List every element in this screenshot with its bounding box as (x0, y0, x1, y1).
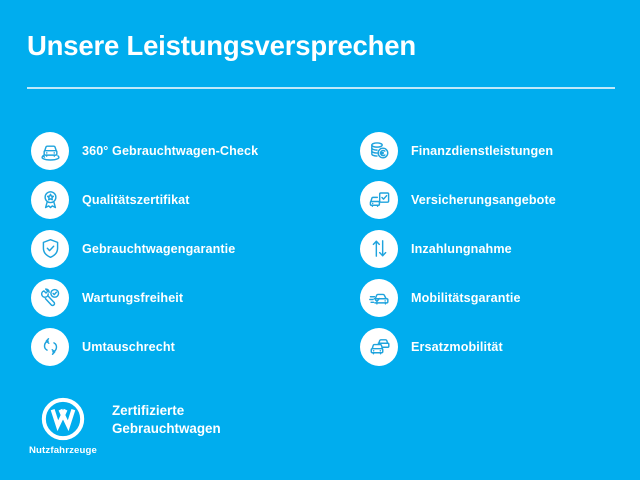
wrench-check-icon (31, 279, 69, 317)
brand-claim: Zertifizierte Gebrauchtwagen (112, 402, 221, 438)
exchange-arrows-icon (31, 328, 69, 366)
two-cars-icon (360, 328, 398, 366)
brand-claim-line-2: Gebrauchtwagen (112, 420, 221, 438)
feature-label: Gebrauchtwagengarantie (82, 242, 235, 256)
feature-item-inzahlungnahme: Inzahlungnahme (360, 224, 630, 273)
car-clipboard-check-icon (360, 181, 398, 219)
feature-label: Mobilitätsgarantie (411, 291, 521, 305)
header: Unsere Leistungsversprechen (27, 30, 615, 62)
coins-euro-icon (360, 132, 398, 170)
shield-check-icon (31, 230, 69, 268)
brand-mark: Nutzfahrzeuge (27, 396, 99, 456)
feature-label: Ersatzmobilität (411, 340, 503, 354)
features-column-right: Finanzdienstleistungen Versicherungsange… (360, 126, 630, 371)
page-title: Unsere Leistungsversprechen (27, 30, 615, 62)
feature-item-qualitaetszertifikat: Qualitätszertifikat (31, 175, 331, 224)
up-down-arrows-icon (360, 230, 398, 268)
feature-label: Versicherungsangebote (411, 193, 556, 207)
feature-item-wartungsfreiheit: Wartungsfreiheit (31, 273, 331, 322)
feature-item-gebrauchtwagengarantie: Gebrauchtwagengarantie (31, 224, 331, 273)
feature-item-versicherungsangebote: Versicherungsangebote (360, 175, 630, 224)
brand-sub-label: Nutzfahrzeuge (29, 445, 97, 456)
features-column-left: 360° Gebrauchtwagen-Check Qualitätszerti… (31, 126, 331, 371)
slide-root: Unsere Leistungsversprechen 360° G (0, 0, 640, 480)
feature-item-umtauschrecht: Umtauschrecht (31, 322, 331, 371)
brand-footer: Nutzfahrzeuge Zertifizierte Gebrauchtwag… (27, 396, 221, 456)
car-check-motion-icon (360, 279, 398, 317)
vw-roundel-logo (40, 396, 86, 442)
feature-label: Wartungsfreiheit (82, 291, 183, 305)
brand-claim-line-1: Zertifizierte (112, 402, 221, 420)
title-divider (27, 87, 615, 89)
feature-label: Finanzdienstleistungen (411, 144, 553, 158)
feature-label: 360° Gebrauchtwagen-Check (82, 144, 258, 158)
feature-label: Qualitätszertifikat (82, 193, 190, 207)
feature-item-gebrauchtwagen-check: 360° Gebrauchtwagen-Check (31, 126, 331, 175)
feature-item-mobilitaetsgarantie: Mobilitätsgarantie (360, 273, 630, 322)
car-360-check-icon (31, 132, 69, 170)
award-rosette-icon (31, 181, 69, 219)
feature-item-ersatzmobilitaet: Ersatzmobilität (360, 322, 630, 371)
feature-item-finanzdienstleistungen: Finanzdienstleistungen (360, 126, 630, 175)
feature-label: Inzahlungnahme (411, 242, 512, 256)
feature-label: Umtauschrecht (82, 340, 175, 354)
